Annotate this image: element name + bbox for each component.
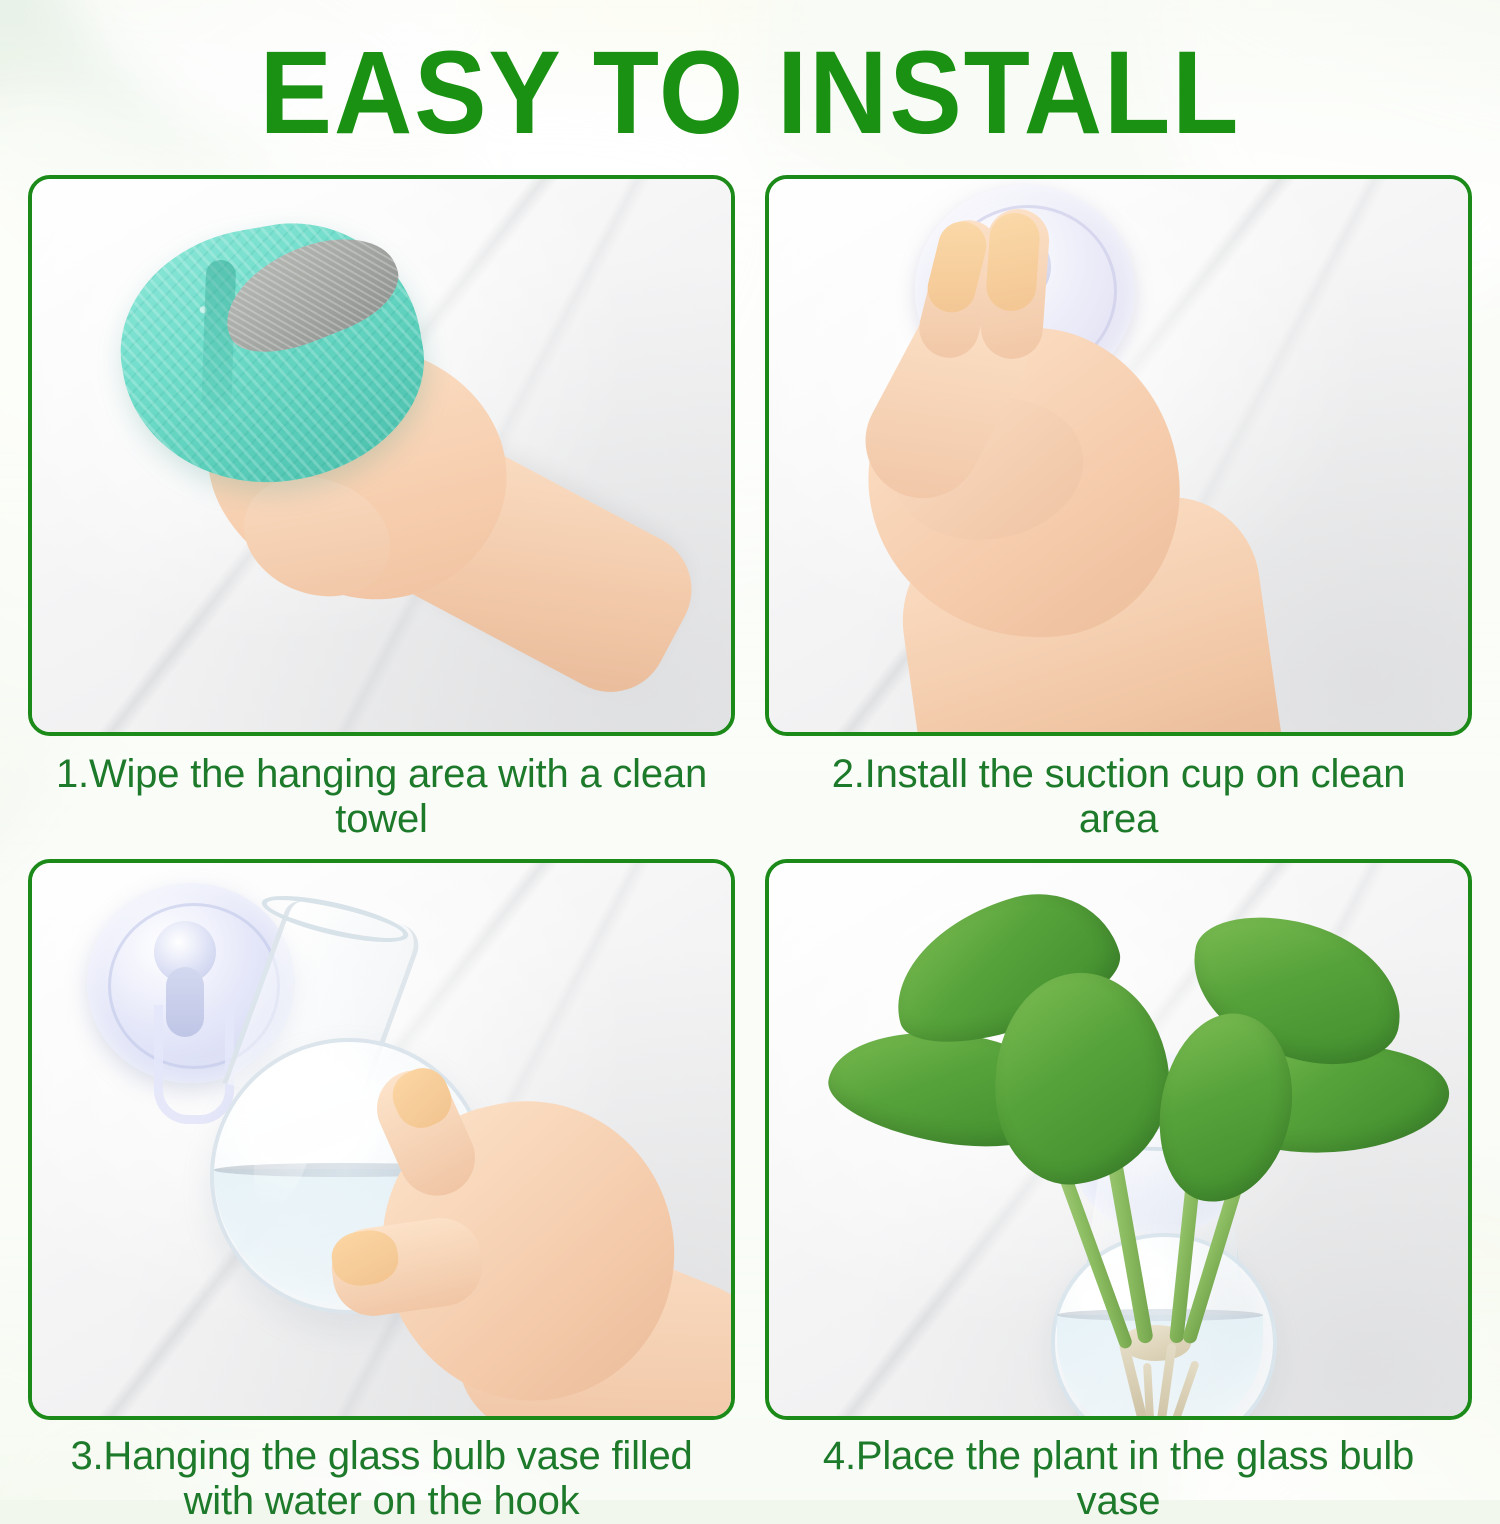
water-surface-line [1057, 1309, 1263, 1321]
step-card-4: 4.Place the plant in the glass bulb vase [765, 859, 1472, 1524]
page-title: EASY TO INSTALL [60, 34, 1440, 152]
step-2-caption: 2.Install the suction cup on clean area [765, 736, 1472, 859]
fingernail [985, 211, 1042, 312]
step-card-2: 2.Install the suction cup on clean area [765, 175, 1472, 859]
step-2-photo [765, 175, 1472, 736]
step-4-photo [765, 859, 1472, 1420]
steps-grid: 1.Wipe the hanging area with a clean tow… [28, 175, 1472, 1475]
step-card-3: 3.Hanging the glass bulb vase filled wit… [28, 859, 735, 1524]
step-1-photo [28, 175, 735, 736]
step-3-photo [28, 859, 735, 1420]
step-card-1: 1.Wipe the hanging area with a clean tow… [28, 175, 735, 859]
step-1-caption: 1.Wipe the hanging area with a clean tow… [28, 736, 735, 859]
hook [154, 1005, 234, 1124]
step-3-caption: 3.Hanging the glass bulb vase filled wit… [28, 1420, 735, 1524]
step-4-caption: 4.Place the plant in the glass bulb vase [765, 1420, 1472, 1524]
